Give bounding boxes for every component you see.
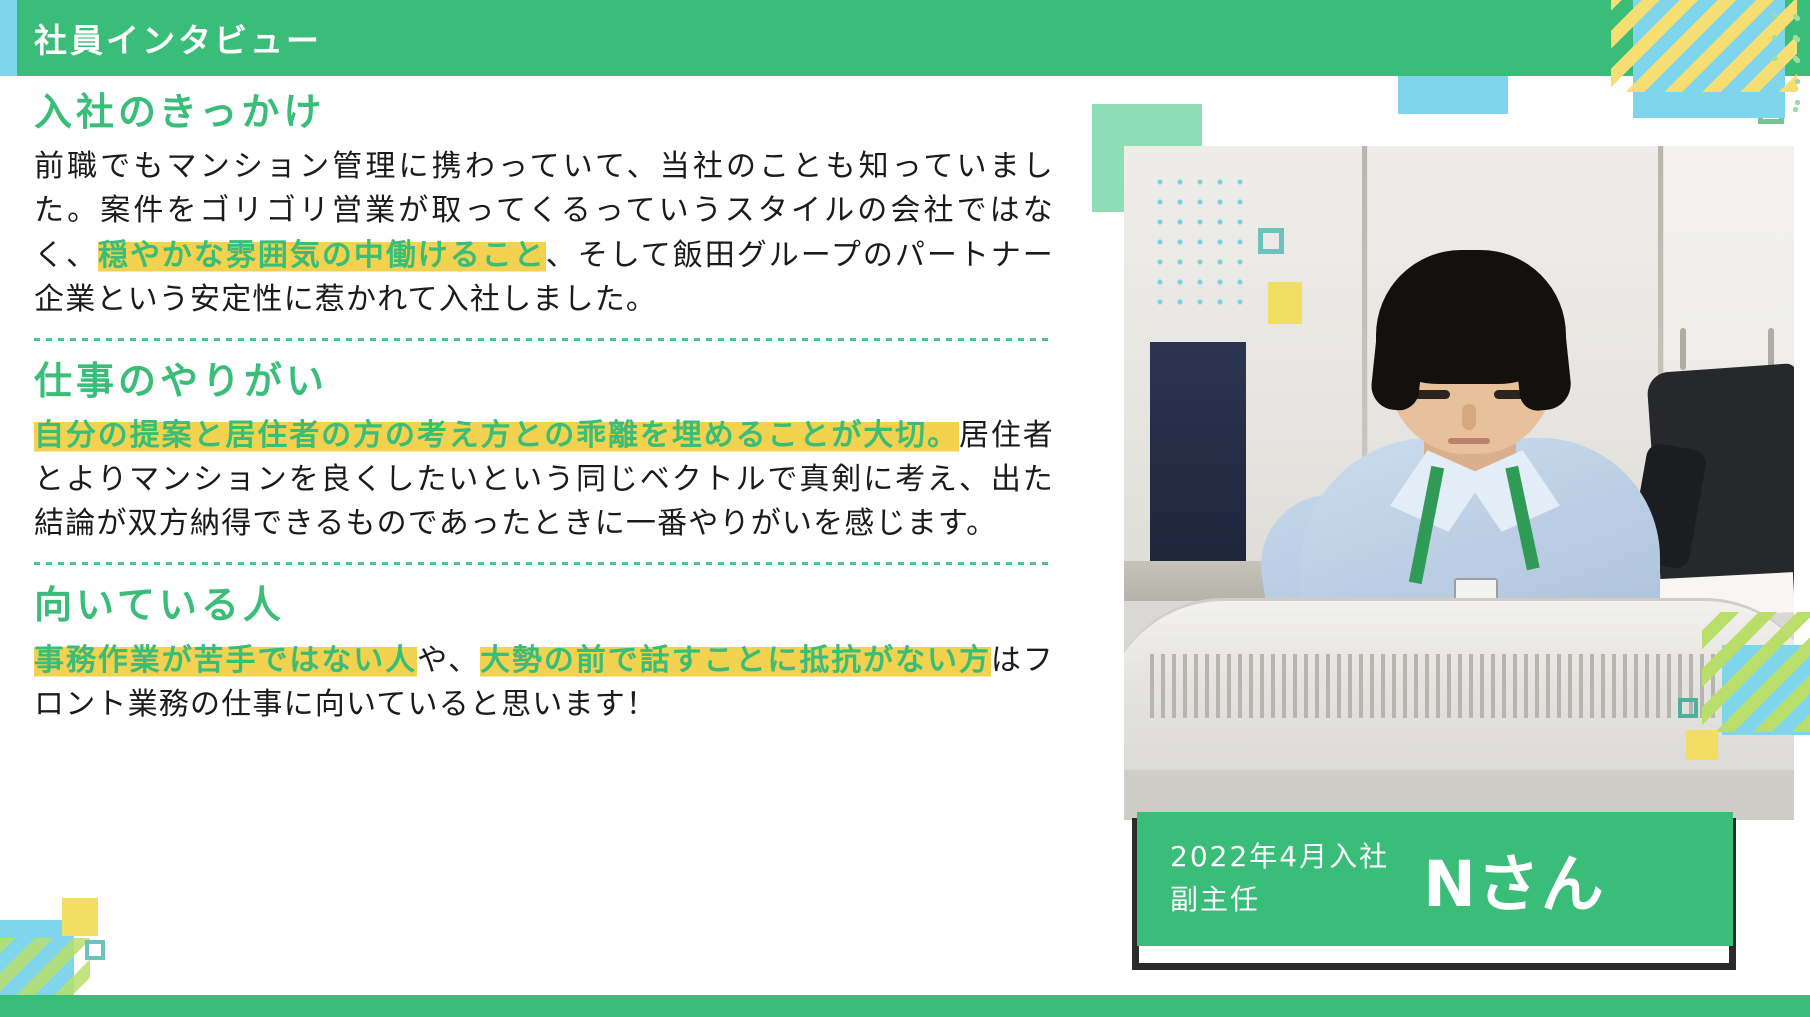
interview-page: 社員インタビュー 入社のきっかけ 前職でもマンション管理に携わっていて、当社のこ…	[0, 0, 1810, 1017]
square-right-yellow	[1686, 730, 1718, 760]
square-photo-upper-blue	[1398, 74, 1508, 114]
square-bottom-left-yellow	[62, 898, 98, 936]
square-outline-right-teal	[1678, 698, 1698, 718]
position: 副主任	[1170, 879, 1389, 922]
section-body: 自分の提案と居住者の方の考え方との乖離を埋めることが大切。居住者とよりマンション…	[34, 414, 1054, 546]
section-body: 事務作業が苦手ではない人や、大勢の前で話すことに抵抗がない方はフロント業務の仕事…	[34, 639, 1054, 727]
section-divider	[34, 338, 1054, 341]
footer-bar	[0, 995, 1810, 1017]
name-card-meta: 2022年4月入社 副主任	[1170, 836, 1389, 921]
page-title: 社員インタビュー	[34, 14, 322, 62]
dots-photo-teal	[1150, 172, 1250, 316]
highlighted-text: 大勢の前で話すことに抵抗がない方	[480, 643, 991, 678]
square-outline-photo-teal	[1258, 228, 1284, 254]
section-suited-people: 向いている人 事務作業が苦手ではない人や、大勢の前で話すことに抵抗がない方はフロ…	[34, 581, 1054, 727]
employee-name: Nさん	[1423, 834, 1605, 925]
section-body: 前職でもマンション管理に携わっていて、当社のことも知っていました。案件をゴリゴリ…	[34, 145, 1054, 321]
square-outline-bottom-left-teal	[85, 940, 105, 960]
section-divider	[34, 562, 1054, 565]
highlighted-text: 事務作業が苦手ではない人	[34, 643, 417, 678]
section-heading: 向いている人	[34, 581, 1054, 630]
section-heading: 仕事のやりがい	[34, 357, 1054, 406]
highlighted-text: 自分の提案と居住者の方の考え方との乖離を埋めることが大切。	[34, 418, 959, 453]
dots-header-green	[1764, 6, 1810, 76]
name-card: 2022年4月入社 副主任 Nさん	[1137, 812, 1733, 946]
header-blue-edge-icon	[0, 0, 17, 76]
highlighted-text: 穏やかな雰囲気の中働けること	[98, 238, 546, 273]
body-text: や、	[417, 643, 480, 678]
section-heading: 入社のきっかけ	[34, 88, 1054, 137]
join-date: 2022年4月入社	[1170, 836, 1389, 879]
square-photo-yellow	[1268, 282, 1302, 324]
interview-content: 入社のきっかけ 前職でもマンション管理に携わっていて、当社のことも知っていました…	[34, 88, 1054, 727]
stripes-right-green	[1702, 612, 1810, 732]
section-reason: 入社のきっかけ 前職でもマンション管理に携わっていて、当社のことも知っていました…	[34, 88, 1054, 322]
section-motivation: 仕事のやりがい 自分の提案と居住者の方の考え方との乖離を埋めることが大切。居住者…	[34, 357, 1054, 547]
